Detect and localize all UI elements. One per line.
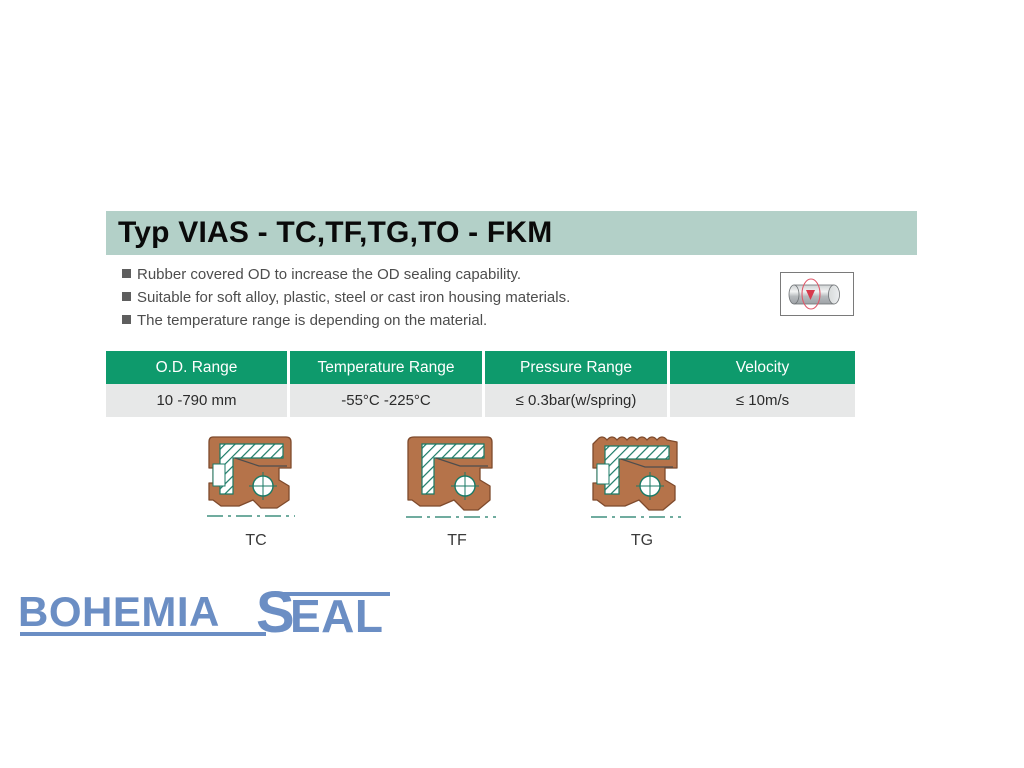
svg-text:EAL: EAL: [290, 590, 384, 642]
column-header-pressure-range: Pressure Range: [485, 351, 670, 384]
feature-text: The temperature range is depending on th…: [137, 312, 487, 329]
column-header-od-range: O.D. Range: [106, 351, 290, 384]
cell-pressure-range: ≤ 0.3bar(w/spring): [485, 384, 670, 417]
cell-temperature-range: -55°C -225°C: [290, 384, 485, 417]
feature-list: Rubber covered OD to increase the OD sea…: [122, 266, 742, 335]
cell-velocity: ≤ 10m/s: [670, 384, 858, 417]
seal-label-tf: TF: [392, 532, 522, 550]
table-row: 10 -790 mm -55°C -225°C ≤ 0.3bar(w/sprin…: [106, 384, 858, 417]
list-item: Suitable for soft alloy, plastic, steel …: [122, 289, 742, 310]
bullet-square-icon: [122, 292, 131, 301]
slide-canvas: Typ VIAS - TC,TF,TG,TO - FKM Rubber cove…: [0, 0, 1024, 768]
seal-diagram-tf-icon: [392, 428, 522, 531]
rotating-shaft-icon: [780, 272, 854, 316]
page-title: Typ VIAS - TC,TF,TG,TO - FKM: [118, 216, 552, 250]
svg-text:BOHEMIA: BOHEMIA: [18, 588, 220, 635]
list-item: The temperature range is depending on th…: [122, 312, 742, 333]
bullet-square-icon: [122, 315, 131, 324]
list-item: Rubber covered OD to increase the OD sea…: [122, 266, 742, 287]
bohemia-seal-logo: BOHEMIA S EAL: [18, 586, 398, 648]
column-header-temperature-range: Temperature Range: [290, 351, 485, 384]
seal-label-tg: TG: [577, 532, 707, 550]
bullet-square-icon: [122, 269, 131, 278]
seal-figures: TC: [0, 428, 1024, 563]
title-band: Typ VIAS - TC,TF,TG,TO - FKM: [106, 211, 917, 255]
seal-figure-tc: TC: [191, 428, 321, 563]
table-header-row: O.D. Range Temperature Range Pressure Ra…: [106, 351, 858, 384]
seal-figure-tf: TF: [392, 428, 522, 563]
seal-label-tc: TC: [191, 532, 321, 550]
seal-figure-tg: TG: [577, 428, 707, 563]
feature-text: Rubber covered OD to increase the OD sea…: [137, 266, 521, 283]
seal-diagram-tc-icon: [191, 428, 321, 531]
seal-diagram-tg-icon: [577, 428, 707, 531]
column-header-velocity: Velocity: [670, 351, 858, 384]
feature-text: Suitable for soft alloy, plastic, steel …: [137, 289, 570, 306]
spec-table: O.D. Range Temperature Range Pressure Ra…: [106, 351, 858, 417]
cell-od-range: 10 -790 mm: [106, 384, 290, 417]
